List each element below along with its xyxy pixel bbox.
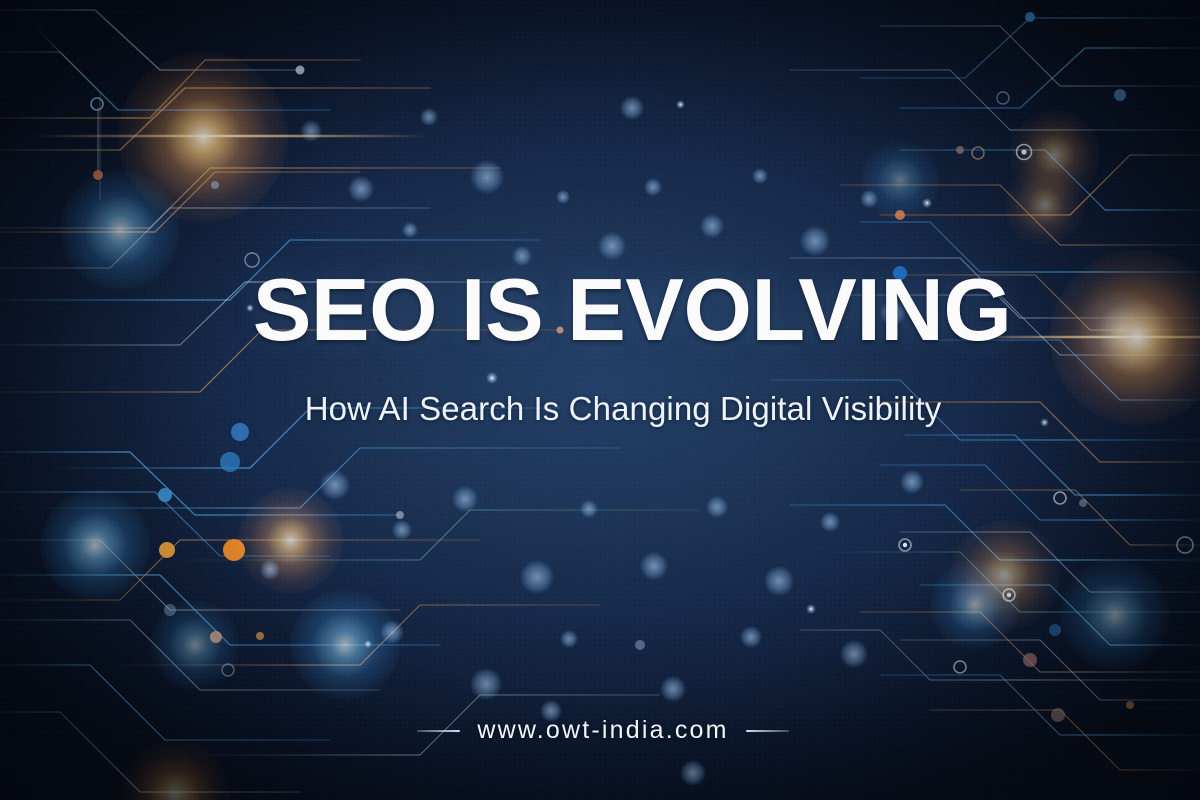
seo-banner: SEO IS EVOLVING How AI Search Is Changin… <box>0 0 1200 800</box>
banner-content: SEO IS EVOLVING How AI Search Is Changin… <box>0 0 1200 800</box>
website-url[interactable]: www.owt-india.com <box>477 716 728 745</box>
footer-url-block: www.owt-india.com <box>0 716 1200 745</box>
subheadline: How AI Search Is Changing Digital Visibi… <box>0 392 1200 425</box>
divider-dash-left <box>417 730 460 732</box>
headline: SEO IS EVOLVING <box>0 266 1200 354</box>
divider-dash-right <box>746 730 789 732</box>
